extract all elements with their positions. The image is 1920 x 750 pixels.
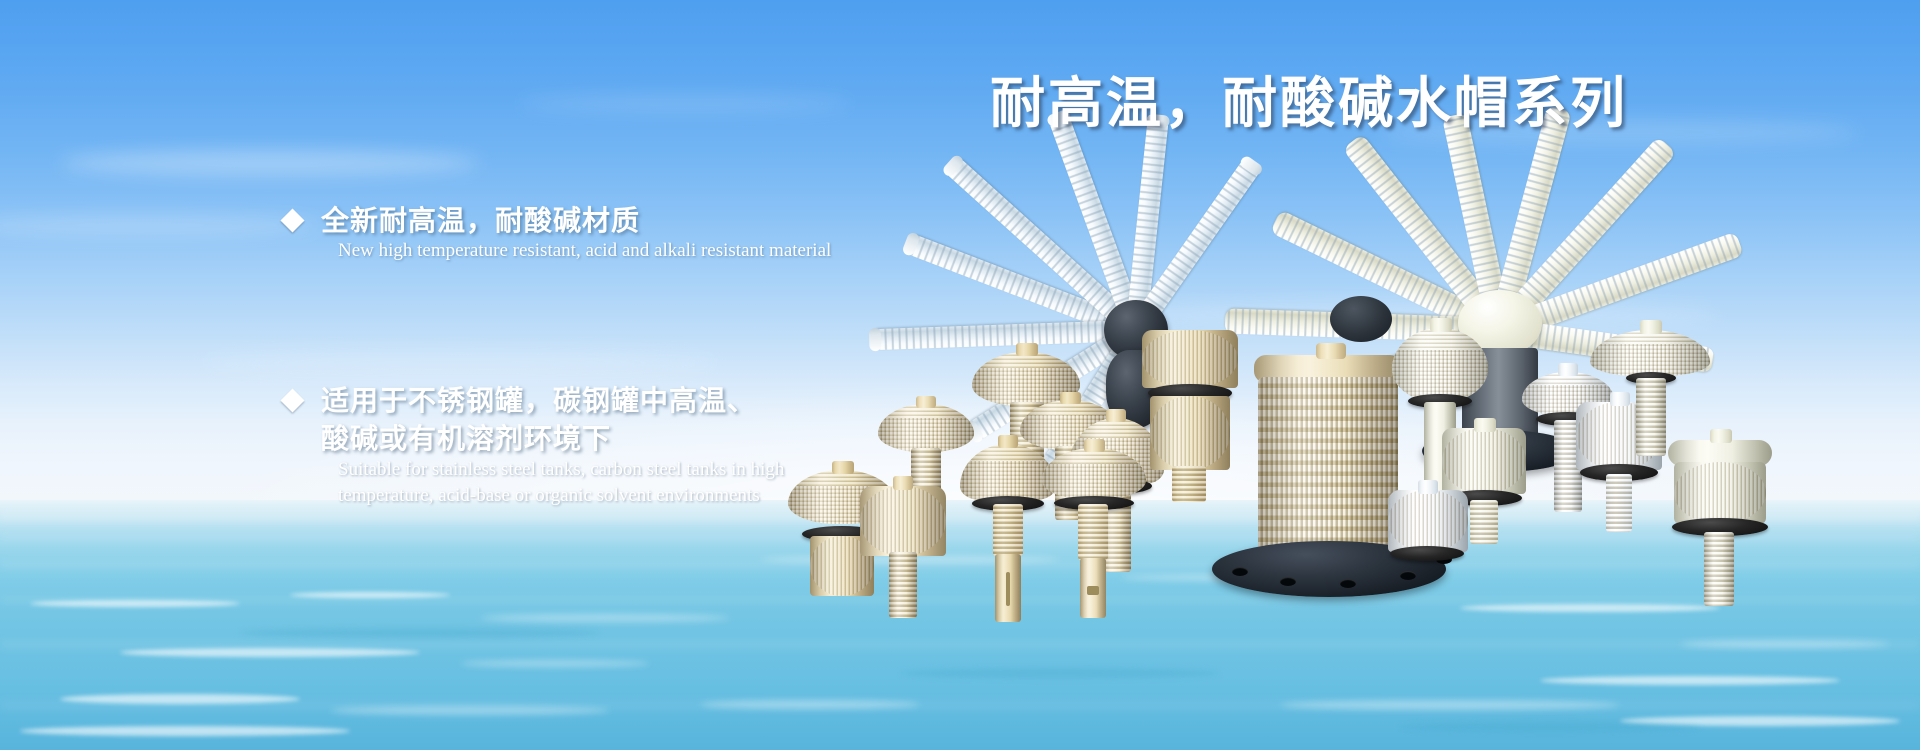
nozzle-stem [1636,378,1666,456]
bullet-item-1: 全新耐高温，耐酸碱材质 New high temperature resista… [284,202,831,264]
flange-hole [1400,571,1416,580]
filter-stem [1172,466,1206,502]
filter-knob [1610,392,1630,406]
strainer-slot [1006,572,1010,606]
nozzle-knob [998,435,1018,448]
nozzle-knob [1640,320,1662,334]
filter-knob [1474,418,1496,432]
nozzle-stem [993,504,1023,556]
filter-knob [1710,429,1732,443]
bullet-2-en: Suitable for stainless steel tanks, carb… [338,457,784,509]
nozzle-stem [1078,504,1108,560]
globe-cap [1392,328,1488,402]
product-cluster [0,0,1920,750]
filter-stem [1470,500,1498,544]
filter-body-lower [1150,396,1230,470]
bullet-1-en: New high temperature resistant, acid and… [338,238,831,264]
filter-ribbed-body [1674,462,1766,524]
strainer-slot [1087,586,1099,595]
dark-hub-piece [1330,296,1392,342]
diamond-marker-icon [280,208,304,232]
bullet-2-cn: 适用于不锈钢罐，碳钢罐中高温、 酸碱或有机溶剂环境下 [321,382,756,458]
filter-stem [1704,532,1734,606]
page-title: 耐高温，耐酸碱水帽系列 [990,58,1628,138]
filter-knob [1418,480,1438,494]
globe-knob [1430,318,1452,332]
filter-top-knob [1316,343,1346,359]
nozzle-knob [916,396,936,408]
flange-hole [1340,579,1356,588]
nozzle-knob [893,476,913,490]
flange-hole [1232,567,1248,576]
filter-body [1388,490,1468,552]
filter-body-upper [1142,330,1238,388]
nozzle-cap-wide [1590,330,1710,376]
nozzle-knob [1016,343,1038,356]
nozzle-knob [1060,392,1081,404]
filter-body [1442,428,1526,494]
bullet-item-2: 适用于不锈钢罐，碳钢罐中高温、 酸碱或有机溶剂环境下 Suitable for … [284,382,784,509]
bullet-1-cn: 全新耐高温，耐酸碱材质 [321,202,640,240]
nozzle-knob [1084,439,1105,452]
filter-slotted-body [1258,377,1398,555]
filter-stem [1606,474,1632,532]
flange-hole [1280,577,1296,586]
nozzle-stem [889,552,917,618]
nozzle-knob [1106,409,1126,422]
nozzle-body [860,486,946,556]
diamond-marker-icon [280,388,304,412]
product-banner: 耐高温，耐酸碱水帽系列 全新耐高温，耐酸碱材质 New high tempera… [0,0,1920,750]
nozzle-knob [832,461,854,474]
nozzle-cap [1042,448,1146,500]
nozzle-knob [1558,363,1578,376]
filter-gasket [1390,546,1464,561]
